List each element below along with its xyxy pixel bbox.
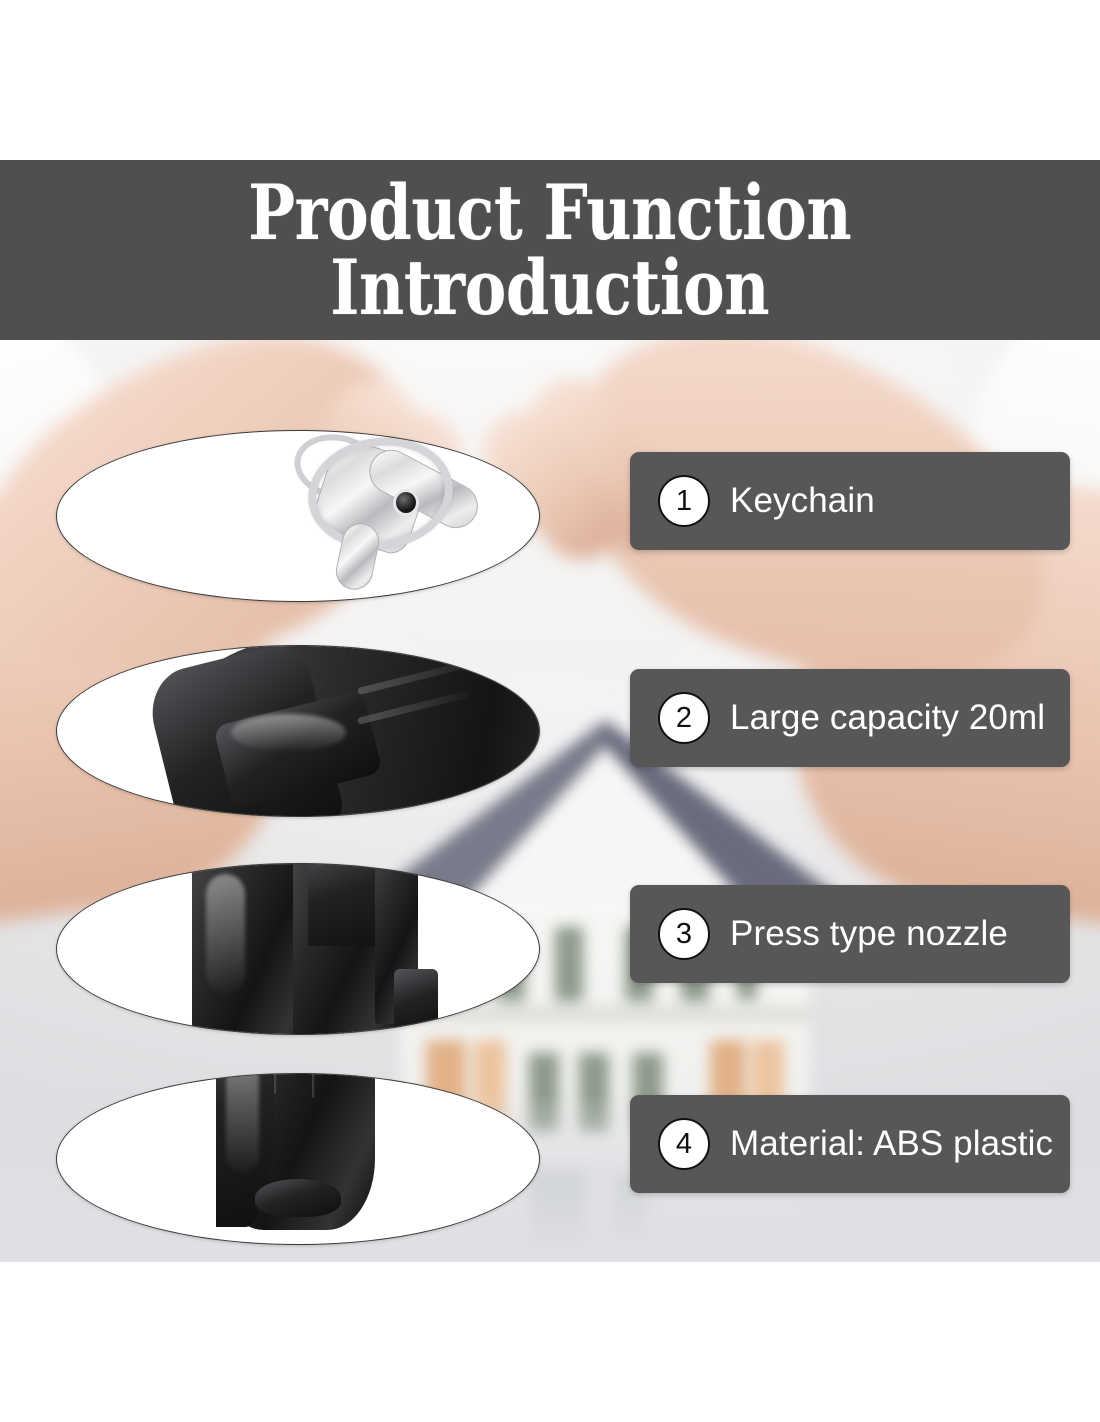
callout-oval-keychain bbox=[56, 430, 540, 602]
base-opening bbox=[255, 1179, 342, 1216]
seam-line bbox=[274, 1073, 277, 1094]
header-band: Product Function Introduction bbox=[0, 160, 1100, 340]
feature-label-3[interactable]: 3 Press type nozzle bbox=[630, 885, 1070, 983]
callout-oval-nozzle bbox=[56, 863, 540, 1035]
highlight bbox=[206, 874, 245, 993]
highlight bbox=[226, 1073, 260, 1173]
feature-label-4[interactable]: 4 Material: ABS plastic bbox=[630, 1095, 1070, 1193]
feature-number-badge-1: 1 bbox=[658, 475, 710, 527]
page-title: Product Function Introduction bbox=[248, 175, 851, 325]
product-infographic: Product Function Introduction bbox=[0, 0, 1100, 1422]
nozzle-stem bbox=[394, 969, 437, 1035]
keychain-clasp-art bbox=[308, 438, 530, 601]
feature-label-text-1: Keychain bbox=[730, 481, 875, 521]
callout-oval-capacity bbox=[56, 645, 540, 817]
seam-line bbox=[312, 1073, 315, 1098]
feature-label-text-2: Large capacity 20ml bbox=[730, 698, 1045, 738]
feature-label-2[interactable]: 2 Large capacity 20ml bbox=[630, 669, 1070, 767]
feature-label-1[interactable]: 1 Keychain bbox=[630, 452, 1070, 550]
feature-label-text-4: Material: ABS plastic bbox=[730, 1124, 1053, 1164]
feature-number-badge-3: 3 bbox=[658, 908, 710, 960]
feature-number-badge-2: 2 bbox=[658, 692, 710, 744]
clasp-rivet bbox=[396, 492, 416, 513]
feature-label-text-3: Press type nozzle bbox=[730, 914, 1008, 954]
feature-number-badge-4: 4 bbox=[658, 1118, 710, 1170]
callout-oval-material bbox=[56, 1073, 540, 1245]
product-photo-area: 1 Keychain 2 Large capacity 20ml 3 Press… bbox=[0, 340, 1100, 1262]
